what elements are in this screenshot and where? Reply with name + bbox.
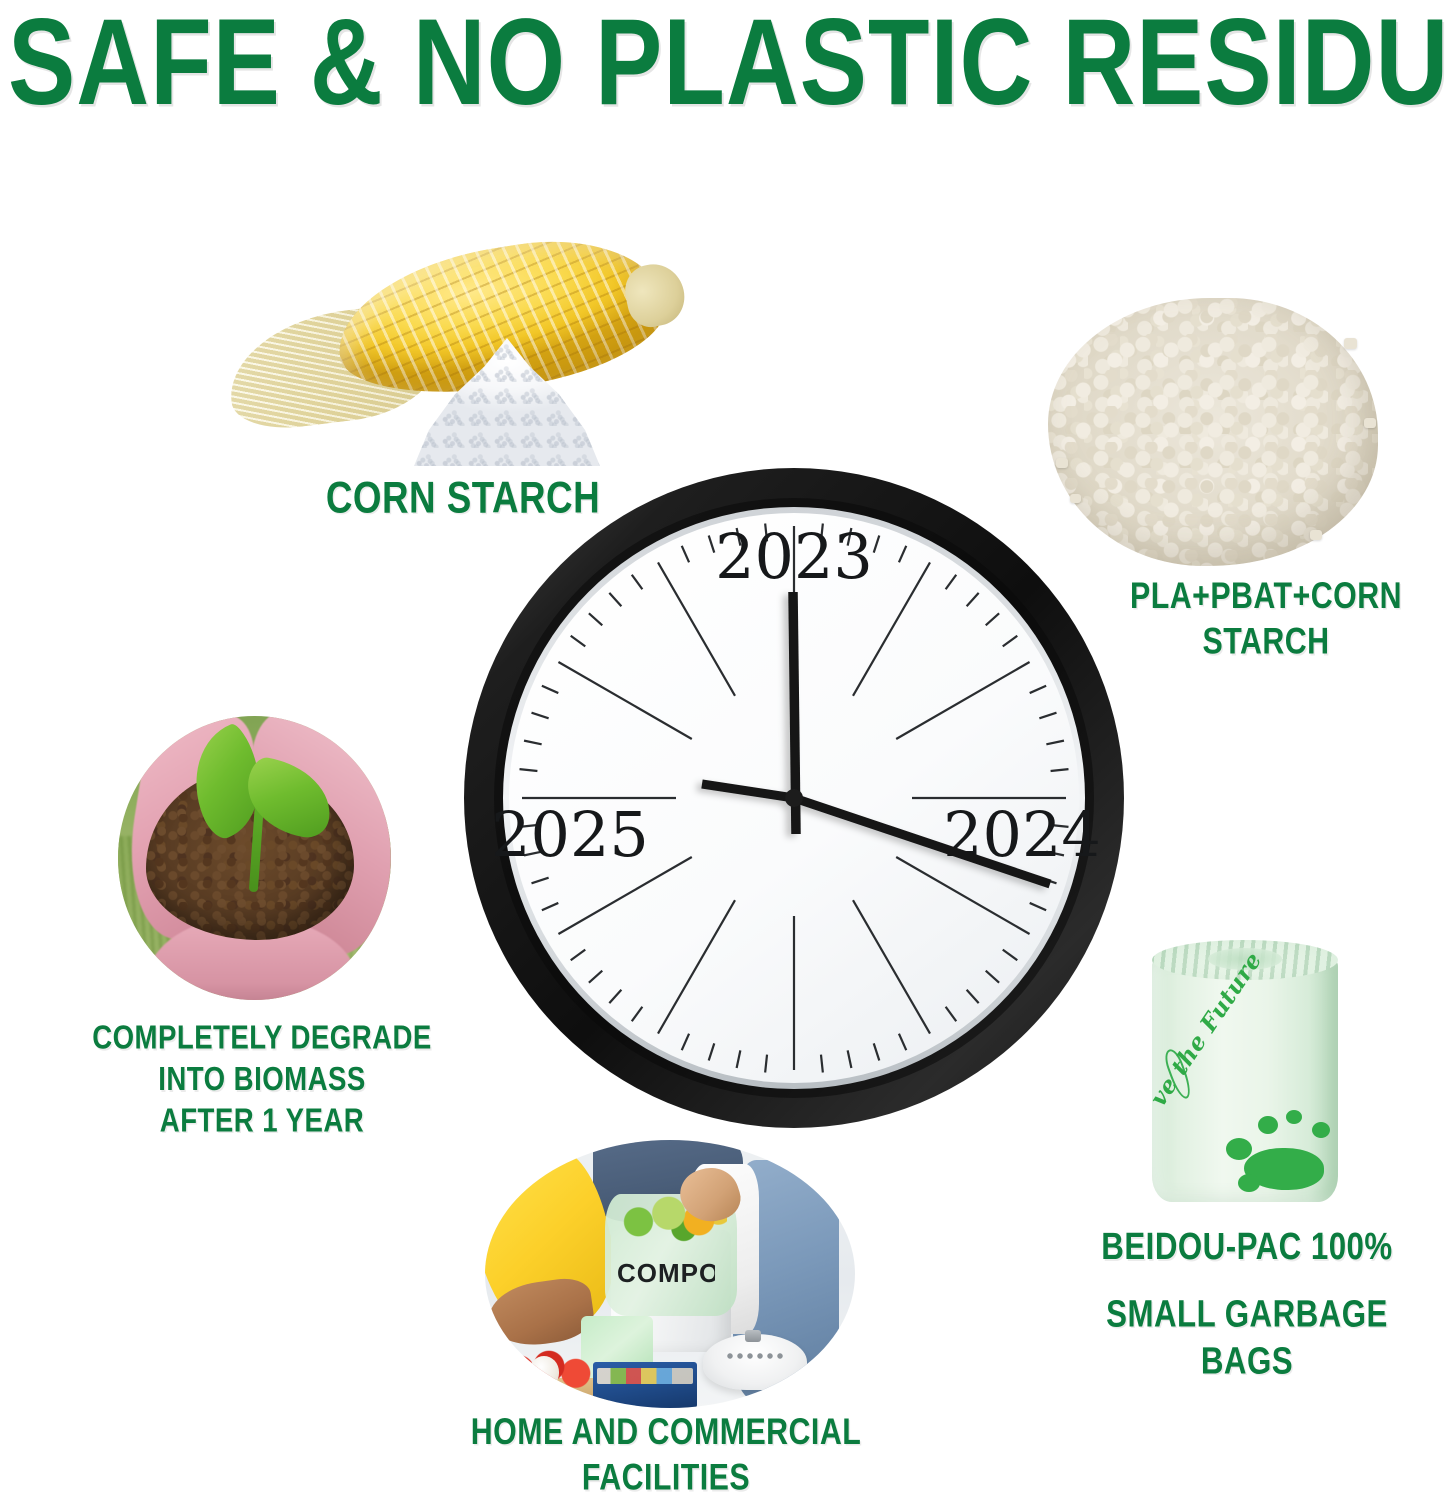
page-title: SAFE & NO PLASTIC RESIDU [8, 0, 1172, 130]
clock-center-cap [785, 789, 803, 807]
art-blob [1312, 1122, 1330, 1138]
compost-bin-label: COMPO [617, 1258, 715, 1289]
compost-kitchen-image: COMPO [485, 1140, 855, 1408]
art-blob [1258, 1116, 1278, 1134]
pellet-stray [1310, 530, 1322, 540]
biodegradation-image [118, 716, 391, 1000]
garbage-bag-roll-image: ve the Future [1152, 940, 1338, 1202]
product-box-artwork [597, 1368, 693, 1384]
caption-facilities: HOME AND COMMERCIAL FACILITIES [456, 1409, 876, 1501]
year-marker-2023: 2023 [715, 520, 873, 593]
caption-line-1: BEIDOU-PAC 100% [1068, 1223, 1427, 1270]
pellet-stray [1344, 338, 1357, 349]
caption-pla-pbat-corn-starch: PLA+PBAT+CORN STARCH [1104, 573, 1428, 665]
pellet-stray [1364, 418, 1376, 428]
caption-line-1: COMPLETELY DEGRADE INTO BIOMASS [80, 1017, 444, 1100]
caption-degrade-biomass: COMPLETELY DEGRADE INTO BIOMASS AFTER 1 … [80, 1017, 444, 1142]
caption-garbage-bags: BEIDOU-PAC 100% SMALL GARBAGE BAGS [1068, 1223, 1427, 1385]
caption-line-2: AFTER 1 YEAR [80, 1101, 444, 1143]
roll-print-artwork [1224, 1108, 1336, 1196]
garlic-bulb [529, 1356, 559, 1388]
art-blob [1226, 1138, 1252, 1160]
year-clock: 2023 2024 2025 [462, 466, 1126, 1130]
lid-knob [745, 1330, 761, 1342]
corn-starch-image [228, 238, 698, 470]
art-blob [1238, 1174, 1260, 1192]
year-marker-2025: 2025 [491, 798, 649, 871]
art-blob [1286, 1110, 1302, 1124]
caption-line-2: SMALL GARBAGE BAGS [1068, 1291, 1427, 1385]
lid-vent-holes [725, 1348, 787, 1364]
clock-graphic: 2023 2024 2025 [462, 466, 1126, 1130]
